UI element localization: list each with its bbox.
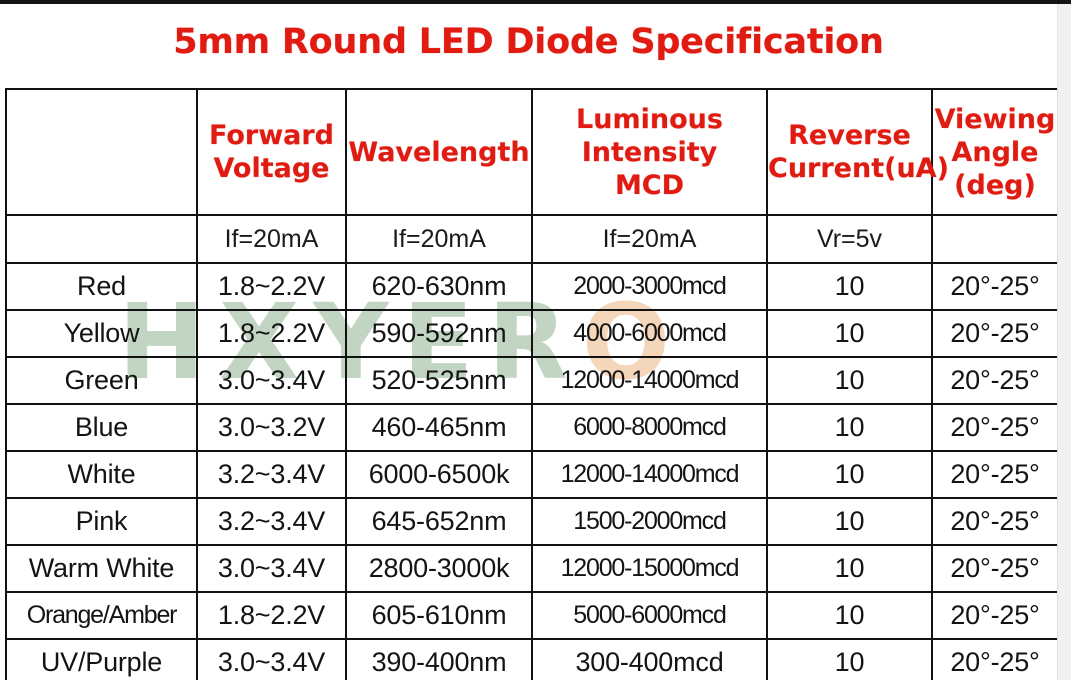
cell-luminous-intensity: 12000-15000mcd (532, 545, 767, 592)
cell-luminous-intensity: 4000-6000mcd (532, 310, 767, 357)
cell-reverse-current: 10 (767, 639, 932, 680)
condition-cell-viewing-angle (932, 215, 1058, 263)
cell-wavelength: 605-610nm (346, 592, 532, 639)
cell-reverse-current: 10 (767, 545, 932, 592)
table-row: White3.2~3.4V6000-6500k12000-14000mcd102… (6, 451, 1058, 498)
cell-viewing-angle: 20°-25° (932, 263, 1058, 310)
condition-cell-luminous-intensity: If=20mA (532, 215, 767, 263)
cell-luminous-intensity: 6000-8000mcd (532, 404, 767, 451)
cell-wavelength: 460-465nm (346, 404, 532, 451)
header-line: Viewing (933, 103, 1057, 136)
cell-color: Pink (6, 498, 197, 545)
table-row: Blue3.0~3.2V460-465nm6000-8000mcd1020°-2… (6, 404, 1058, 451)
specification-table-wrapper: Forward Voltage Wavelength Luminous Inte… (5, 88, 1057, 680)
table-row: Warm White3.0~3.4V2800-3000k12000-15000m… (6, 545, 1058, 592)
cell-color: White (6, 451, 197, 498)
cell-luminous-intensity: 12000-14000mcd (532, 451, 767, 498)
cell-viewing-angle: 20°-25° (932, 498, 1058, 545)
page-right-edge (1057, 4, 1071, 680)
cell-viewing-angle: 20°-25° (932, 357, 1058, 404)
cell-viewing-angle: 20°-25° (932, 592, 1058, 639)
cell-forward-voltage: 3.0~3.4V (197, 639, 346, 680)
page-right-edge-upper (1057, 4, 1058, 88)
cell-luminous-intensity: 12000-14000mcd (532, 357, 767, 404)
table-row: Orange/Amber1.8~2.2V605-610nm5000-6000mc… (6, 592, 1058, 639)
table-header-row: Forward Voltage Wavelength Luminous Inte… (6, 89, 1058, 215)
cell-reverse-current: 10 (767, 263, 932, 310)
condition-cell-wavelength: If=20mA (346, 215, 532, 263)
cell-viewing-angle: 20°-25° (932, 451, 1058, 498)
cell-forward-voltage: 3.0~3.4V (197, 357, 346, 404)
header-line: Reverse (768, 119, 931, 152)
condition-cell-forward-voltage: If=20mA (197, 215, 346, 263)
cell-reverse-current: 10 (767, 404, 932, 451)
cell-reverse-current: 10 (767, 592, 932, 639)
cell-color: Red (6, 263, 197, 310)
header-cell-reverse-current: Reverse Current(uA) (767, 89, 932, 215)
cell-reverse-current: 10 (767, 310, 932, 357)
cell-wavelength: 645-652nm (346, 498, 532, 545)
cell-viewing-angle: 20°-25° (932, 310, 1058, 357)
table-row: Green3.0~3.4V520-525nm12000-14000mcd1020… (6, 357, 1058, 404)
header-cell-wavelength: Wavelength (346, 89, 532, 215)
page-title: 5mm Round LED Diode Specification (0, 22, 1057, 62)
header-line: Angle (933, 136, 1057, 169)
cell-color: Warm White (6, 545, 197, 592)
cell-reverse-current: 10 (767, 451, 932, 498)
cell-viewing-angle: 20°-25° (932, 639, 1058, 680)
cell-wavelength: 390-400nm (346, 639, 532, 680)
cell-forward-voltage: 3.0~3.4V (197, 545, 346, 592)
header-line: Current(uA) (768, 152, 931, 185)
header-line: Forward (198, 119, 345, 152)
cell-luminous-intensity: 300-400mcd (532, 639, 767, 680)
cell-wavelength: 6000-6500k (346, 451, 532, 498)
header-line: MCD (533, 169, 766, 202)
cell-forward-voltage: 1.8~2.2V (197, 310, 346, 357)
cell-luminous-intensity: 5000-6000mcd (532, 592, 767, 639)
cell-luminous-intensity: 2000-3000mcd (532, 263, 767, 310)
header-line: Luminous (533, 103, 766, 136)
cell-wavelength: 590-592nm (346, 310, 532, 357)
cell-reverse-current: 10 (767, 357, 932, 404)
cell-viewing-angle: 20°-25° (932, 404, 1058, 451)
cell-wavelength: 520-525nm (346, 357, 532, 404)
cell-color: Yellow (6, 310, 197, 357)
header-cell-color (6, 89, 197, 215)
cell-forward-voltage: 3.0~3.2V (197, 404, 346, 451)
header-cell-forward-voltage: Forward Voltage (197, 89, 346, 215)
table-row: UV/Purple3.0~3.4V390-400nm300-400mcd1020… (6, 639, 1058, 680)
cell-color: Green (6, 357, 197, 404)
cell-viewing-angle: 20°-25° (932, 545, 1058, 592)
table-row: Red1.8~2.2V620-630nm2000-3000mcd1020°-25… (6, 263, 1058, 310)
condition-cell-reverse-current: Vr=5v (767, 215, 932, 263)
cell-luminous-intensity: 1500-2000mcd (532, 498, 767, 545)
cell-color: Orange/Amber (6, 592, 197, 639)
cell-wavelength: 620-630nm (346, 263, 532, 310)
header-line: Voltage (198, 152, 345, 185)
table-row: Pink3.2~3.4V645-652nm1500-2000mcd1020°-2… (6, 498, 1058, 545)
cell-forward-voltage: 1.8~2.2V (197, 592, 346, 639)
cell-forward-voltage: 1.8~2.2V (197, 263, 346, 310)
header-cell-luminous-intensity: Luminous Intensity MCD (532, 89, 767, 215)
test-condition-row: If=20mA If=20mA If=20mA Vr=5v (6, 215, 1058, 263)
header-line: Wavelength (347, 136, 531, 169)
page-top-edge (0, 0, 1071, 4)
cell-reverse-current: 10 (767, 498, 932, 545)
header-line: Intensity (533, 136, 766, 169)
header-cell-viewing-angle: Viewing Angle (deg) (932, 89, 1058, 215)
cell-color: Blue (6, 404, 197, 451)
specification-table: Forward Voltage Wavelength Luminous Inte… (5, 88, 1059, 680)
header-line: (deg) (933, 169, 1057, 202)
cell-wavelength: 2800-3000k (346, 545, 532, 592)
cell-forward-voltage: 3.2~3.4V (197, 498, 346, 545)
cell-forward-voltage: 3.2~3.4V (197, 451, 346, 498)
condition-cell-color (6, 215, 197, 263)
cell-color: UV/Purple (6, 639, 197, 680)
table-row: Yellow1.8~2.2V590-592nm4000-6000mcd1020°… (6, 310, 1058, 357)
specification-sheet: HXYERO 5mm Round LED Diode Specification… (0, 0, 1071, 680)
